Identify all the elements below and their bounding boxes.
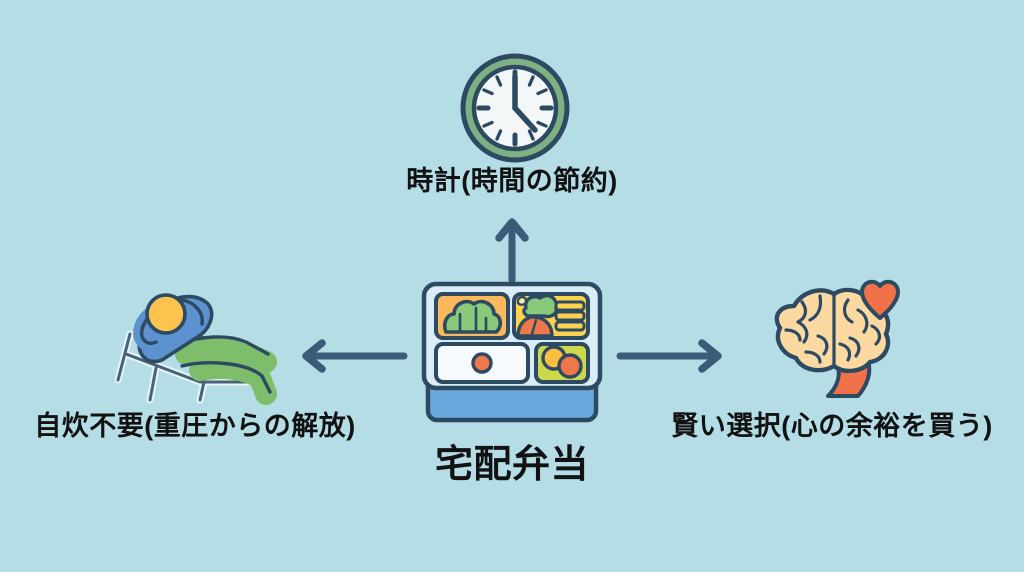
clock-label: 時計(時間の節約) [0,168,1024,195]
bento-label: 宅配弁当 [0,446,1024,484]
arrow-up [495,216,529,282]
brain-label: 賢い選択(心の余裕を買う) [640,413,1024,440]
clock-icon [455,48,575,168]
arrow-right [618,338,726,374]
diagram-canvas: 時計(時間の節約) [0,0,1024,572]
arrow-left [298,338,406,374]
brain-with-heart-icon [762,276,908,398]
person-relaxing-lounge-chair-icon [104,282,274,400]
relax-label: 自炊不要(重圧からの解放) [0,413,390,440]
bento-box-icon [420,278,604,424]
